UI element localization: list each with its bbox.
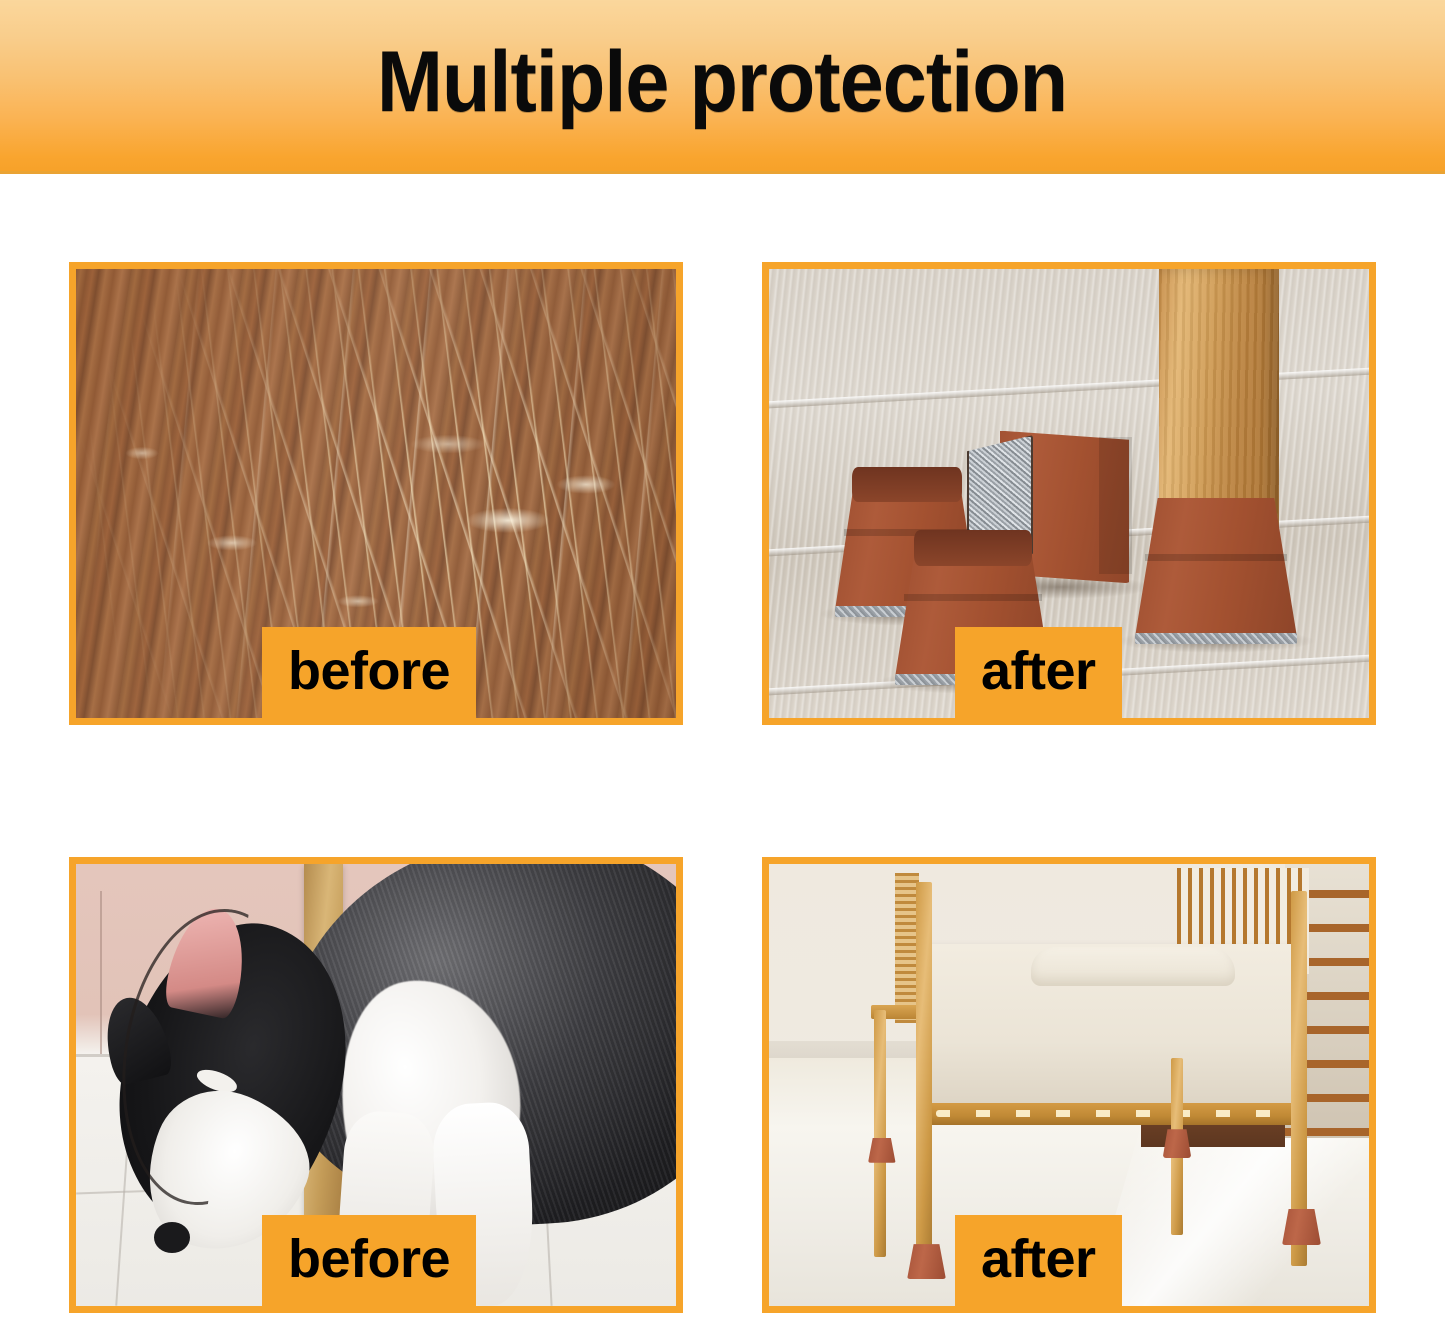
cap-rim — [1099, 437, 1132, 574]
chair-front-rail — [925, 1103, 1303, 1125]
badge-after-top-right: after — [955, 627, 1122, 718]
chair-back-pillow — [1031, 947, 1235, 986]
panel-top-left[interactable]: before — [69, 262, 683, 725]
dog-nose — [154, 1222, 190, 1253]
comparison-grid: before — [0, 174, 1445, 1322]
chair-leg — [916, 882, 932, 1258]
floor-plank-seam — [769, 364, 1369, 411]
panel-top-right[interactable]: after — [762, 262, 1376, 725]
felt-pad — [1135, 633, 1297, 644]
page-title: Multiple protection — [377, 39, 1067, 135]
cap-body — [1135, 498, 1297, 637]
chair-seat-cushion — [925, 944, 1303, 1108]
leg-cap-fitted-on-leg — [1135, 498, 1297, 637]
badge-before-top-left: before — [262, 627, 476, 718]
leg-cap-on-chair — [1282, 1209, 1321, 1245]
cap-opening — [852, 467, 961, 502]
panel-bottom-left[interactable]: before — [69, 857, 683, 1313]
leg-cap-on-chair — [868, 1138, 896, 1163]
panel-bottom-right[interactable]: after — [762, 857, 1376, 1313]
chair-leg — [874, 1010, 886, 1258]
leg-cap-on-chair — [1163, 1129, 1192, 1158]
header-banner: Multiple protection — [0, 0, 1445, 174]
cap-opening — [914, 530, 1033, 566]
badge-after-bottom-right: after — [955, 1215, 1122, 1306]
leg-cap-on-chair — [907, 1244, 946, 1279]
cap-rim — [1145, 554, 1288, 561]
wooden-table-leg — [1159, 269, 1279, 529]
badge-before-bottom-left: before — [262, 1215, 476, 1306]
cap-rim — [904, 594, 1041, 601]
